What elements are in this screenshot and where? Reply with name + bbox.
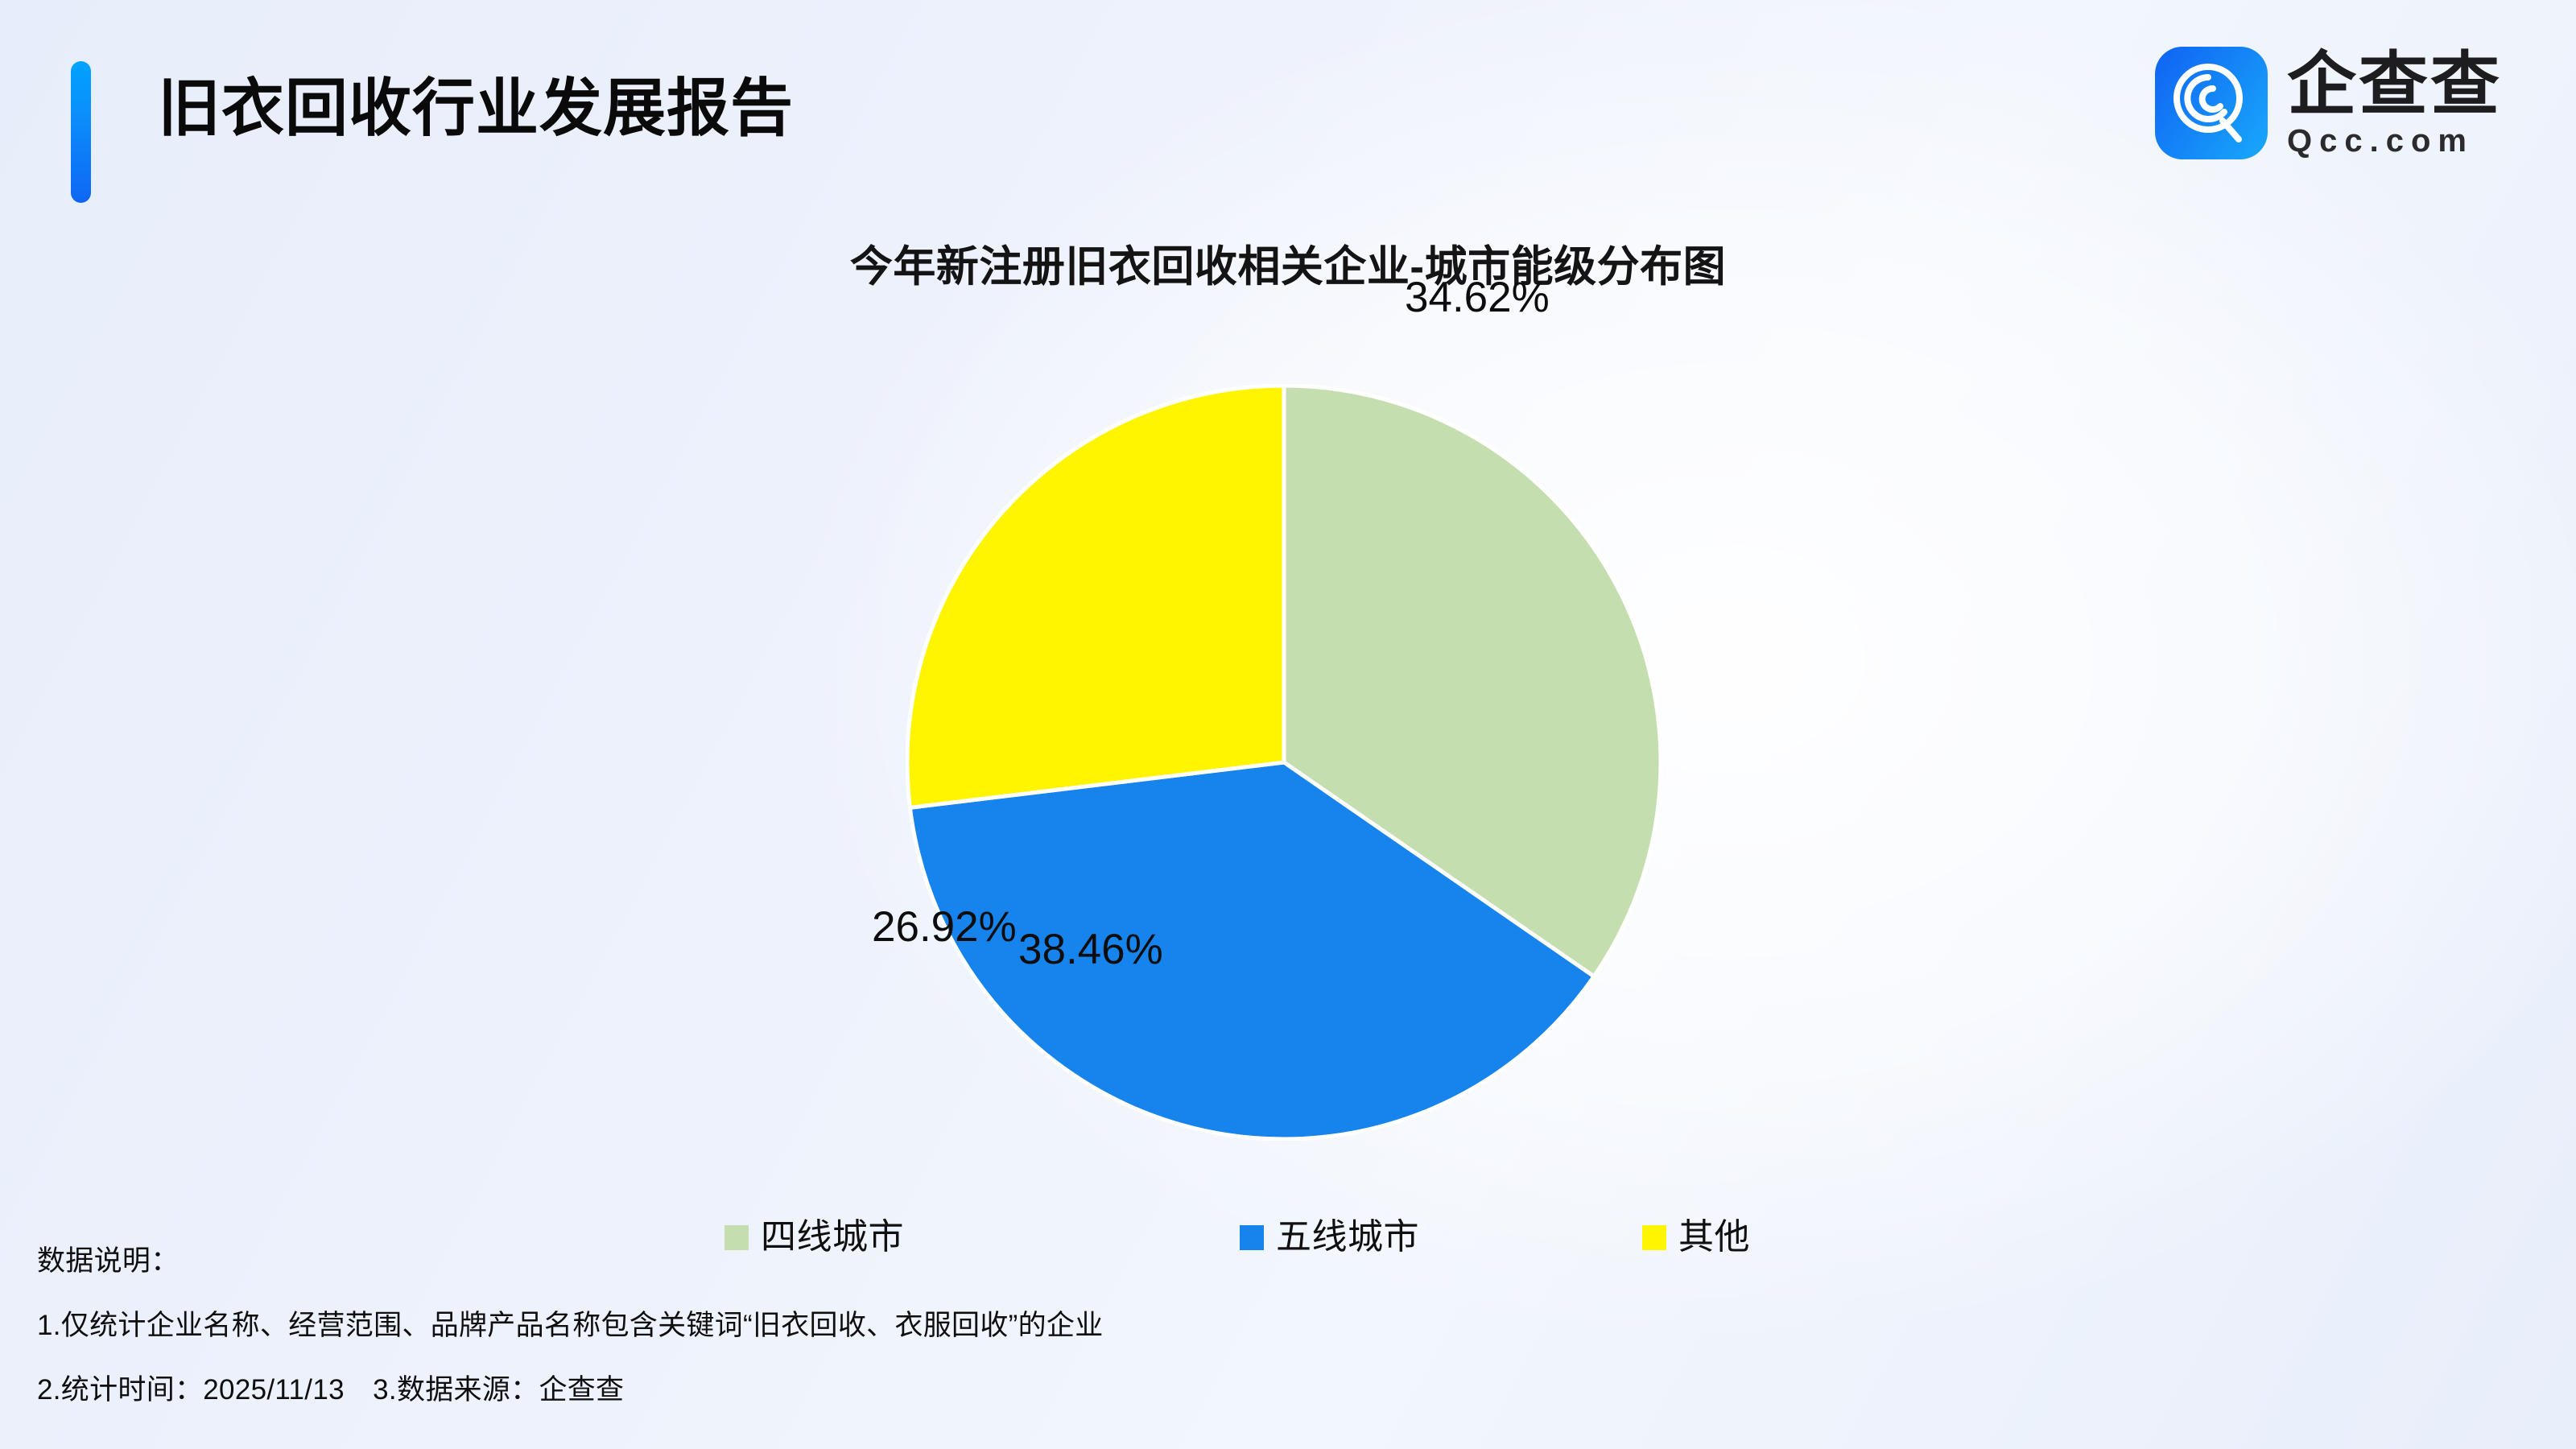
chart-title: 今年新注册旧衣回收相关企业-城市能级分布图 — [0, 238, 2576, 296]
pie-slice-label-0: 34.62% — [1405, 274, 1550, 322]
brand-name-cn: 企查查 — [2287, 47, 2502, 122]
report-page: 旧衣回收行业发展报告 企查查 Qcc.com 今年新注册旧衣回收相关企业-城市能… — [0, 0, 2576, 1449]
brand-logo: 企查查 Qcc.com — [2155, 47, 2502, 159]
qcc-q-magnifier-icon — [2155, 47, 2268, 159]
brand-name-en: Qcc.com — [2287, 123, 2502, 159]
footnote-heading: 数据说明： — [37, 1244, 1808, 1279]
page-title: 旧衣回收行业发展报告 — [158, 63, 794, 153]
footnote-line-1: 1.仅统计企业名称、经营范围、品牌产品名称包含关键词“旧衣回收、衣服回收”的企业 — [37, 1308, 1808, 1344]
brand-wordmark: 企查查 Qcc.com — [2287, 47, 2502, 159]
title-accent-bar — [71, 61, 91, 203]
pie-slice-label-2: 26.92% — [872, 903, 1017, 952]
footnotes: 数据说明： 1.仅统计企业名称、经营范围、品牌产品名称包含关键词“旧衣回收、衣服… — [37, 1244, 1808, 1408]
pie-slice[interactable] — [907, 386, 1284, 807]
pie-slice-label-1: 38.46% — [1018, 926, 1163, 974]
pie-chart — [906, 384, 1662, 1141]
footnote-line-2: 2.统计时间：2025/11/13 3.数据来源：企查查 — [37, 1373, 1808, 1408]
